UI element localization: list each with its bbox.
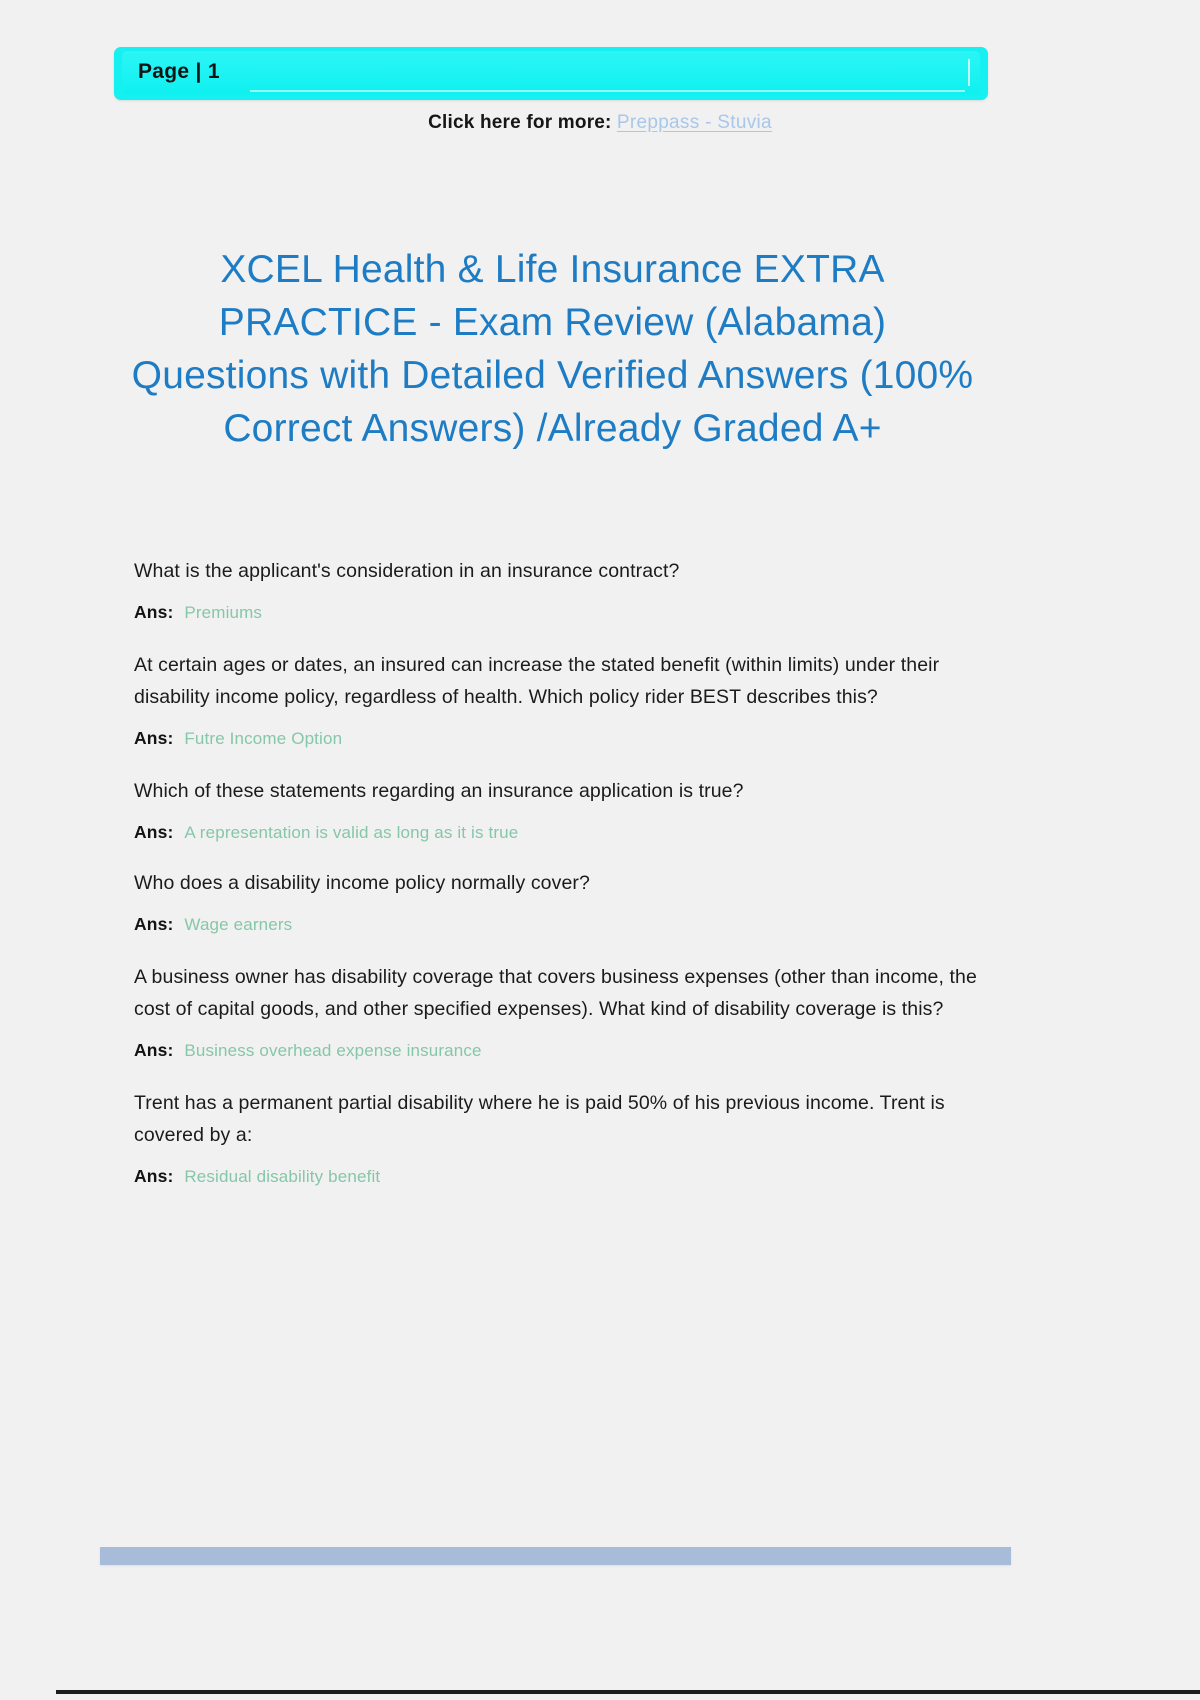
answer-row: Ans: Futre Income Option [134,726,979,751]
answer-row: Ans: Premiums [134,600,979,625]
promo-lead-text: Click here for more: [428,112,612,133]
qa-item: A business owner has disability coverage… [134,961,979,1063]
qa-item: Who does a disability income policy norm… [134,867,979,937]
answer-label: Ans: [134,1040,174,1060]
answer-text: Futre Income Option [184,729,342,748]
page-title: XCEL Health & Life Insurance EXTRA PRACT… [130,243,975,455]
answer-row: Ans: Wage earners [134,912,979,937]
page-header-banner: Page | 1 [114,47,988,100]
answer-row: Ans: Business overhead expense insurance [134,1038,979,1063]
answer-label: Ans: [134,914,174,934]
question-text: A business owner has disability coverage… [134,961,979,1025]
page-number-label: Page | 1 [138,60,220,84]
answer-text: Wage earners [184,915,292,934]
answer-text: Business overhead expense insurance [184,1041,481,1060]
answer-label: Ans: [134,728,174,748]
answer-text: Residual disability benefit [184,1167,380,1186]
promo-line: Click here for more: Preppass - Stuvia [0,112,1200,134]
qa-list: What is the applicant's consideration in… [134,555,979,1213]
footer-bar [100,1547,1011,1565]
answer-label: Ans: [134,822,174,842]
question-text: Who does a disability income policy norm… [134,867,979,899]
header-banner-fill [122,51,980,95]
answer-label: Ans: [134,1166,174,1186]
question-text: Trent has a permanent partial disability… [134,1087,979,1151]
answer-text: Premiums [184,603,262,622]
promo-link[interactable]: Preppass - Stuvia [617,112,772,133]
qa-item: Trent has a permanent partial disability… [134,1087,979,1189]
question-text: Which of these statements regarding an i… [134,775,979,807]
document-page: Page | 1 Click here for more: Preppass -… [0,0,1200,1700]
header-divider-rule [250,90,965,92]
question-text: What is the applicant's consideration in… [134,555,979,587]
qa-item: At certain ages or dates, an insured can… [134,649,979,751]
question-text: At certain ages or dates, an insured can… [134,649,979,713]
header-end-tick [968,59,970,86]
answer-label: Ans: [134,602,174,622]
page-bottom-rule [56,1690,1200,1694]
answer-row: Ans: A representation is valid as long a… [134,820,979,845]
answer-text: A representation is valid as long as it … [184,823,518,842]
answer-row: Ans: Residual disability benefit [134,1164,979,1189]
qa-item: Which of these statements regarding an i… [134,775,979,845]
qa-item: What is the applicant's consideration in… [134,555,979,625]
